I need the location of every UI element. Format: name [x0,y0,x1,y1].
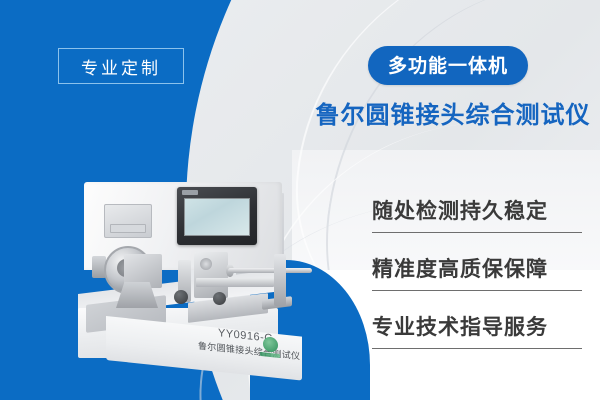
feature-item: 专业技术指导服务 [372,306,582,349]
end-bracket [274,254,286,306]
custom-service-badge: 专业定制 [58,48,184,84]
certification-badge-icon [260,336,280,358]
product-category-pill: 多功能一体机 [368,46,528,85]
hmi-touchscreen [177,187,257,245]
feature-list: 随处检测持久稳定 精准度高质保保障 专业技术指导服务 [372,190,582,349]
page-title: 鲁尔圆锥接头综合测试仪 [310,95,596,130]
touchscreen-icon [184,198,250,236]
hmi-brand-logo-icon [182,190,198,195]
machine-mounting-plate [104,204,152,238]
clamp-fixture-secondary [194,252,228,298]
cert-logo-circle [263,336,278,353]
guide-rail [196,278,274,287]
feature-item: 随处检测持久稳定 [372,190,582,233]
adjustment-knob [174,290,188,304]
linear-rod-icon [228,268,312,273]
adjustment-knob-secondary [213,292,226,305]
product-machine-image: YY0916-C 鲁尔圆锥接头综合测试仪 [78,182,310,374]
promo-banner: 专业定制 多功能一体机 鲁尔圆锥接头综合测试仪 随处检测持久稳定 精准度高质保保… [0,0,600,400]
feature-item: 精准度高质保保障 [372,248,582,291]
